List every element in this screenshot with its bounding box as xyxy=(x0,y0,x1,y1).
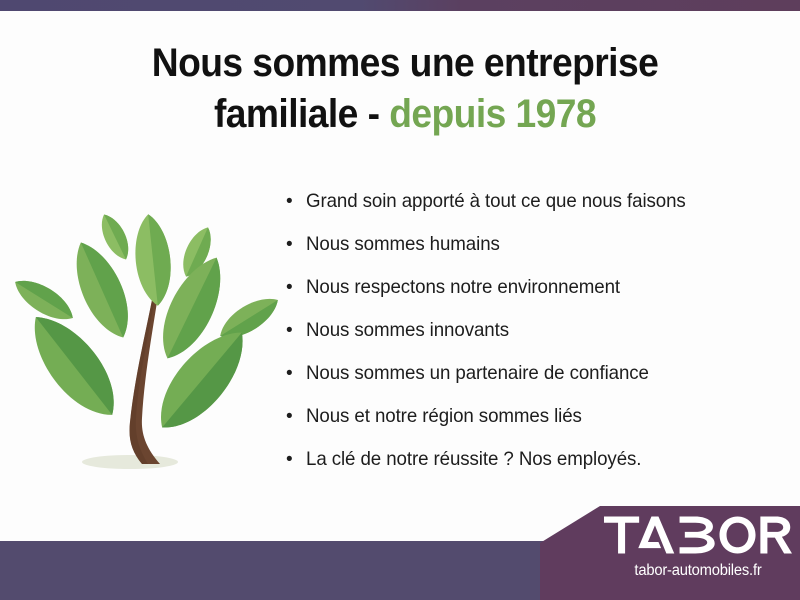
page-title-accent: depuis 1978 xyxy=(389,92,596,136)
bullet-marker-icon: • xyxy=(286,450,306,469)
tabor-wordmark-svg xyxy=(604,514,792,556)
list-item-label: Nous sommes un partenaire de confiance xyxy=(306,362,649,385)
bullet-marker-icon: • xyxy=(286,321,306,340)
tabor-logo xyxy=(604,514,792,556)
bullet-marker-icon: • xyxy=(286,192,306,211)
list-item: • Nous respectons notre environnement xyxy=(286,276,756,319)
bullet-marker-icon: • xyxy=(286,364,306,383)
list-item: • La clé de notre réussite ? Nos employé… xyxy=(286,448,756,491)
bullet-marker-icon: • xyxy=(286,407,306,426)
list-item-label: Nous sommes innovants xyxy=(306,319,509,342)
list-item-label: Nous et notre région sommes liés xyxy=(306,405,582,428)
tree-leaf xyxy=(63,235,141,346)
feature-bullet-list: • Grand soin apporté à tout ce que nous … xyxy=(286,190,756,491)
tree-illustration xyxy=(12,190,284,490)
page-title-line-1: Nous sommes une entreprise xyxy=(84,38,726,89)
list-item: • Nous sommes humains xyxy=(286,233,756,276)
bullet-marker-icon: • xyxy=(286,235,306,254)
list-item: • Nous et notre région sommes liés xyxy=(286,405,756,448)
bullet-marker-icon: • xyxy=(286,278,306,297)
list-item-label: Grand soin apporté à tout ce que nous fa… xyxy=(306,190,686,213)
page-title-line-2: familiale - depuis 1978 xyxy=(84,89,726,140)
list-item-label: La clé de notre réussite ? Nos employés. xyxy=(306,448,641,471)
page-title: Nous sommes une entreprise familiale - d… xyxy=(84,38,726,140)
slide-canvas: Nous sommes une entreprise familiale - d… xyxy=(0,0,800,600)
tree-leaf xyxy=(144,317,260,443)
list-item: • Grand soin apporté à tout ce que nous … xyxy=(286,190,756,233)
list-item-label: Nous sommes humains xyxy=(306,233,500,256)
top-accent-band xyxy=(0,0,800,11)
list-item: • Nous sommes innovants xyxy=(286,319,756,362)
list-item-label: Nous respectons notre environnement xyxy=(306,276,620,299)
tree-ground-shadow xyxy=(82,455,178,469)
page-title-plain: familiale - xyxy=(214,92,389,136)
logo-url: tabor-automobiles.fr xyxy=(609,562,788,580)
tree-svg xyxy=(12,190,284,490)
list-item: • Nous sommes un partenaire de confiance xyxy=(286,362,756,405)
tree-leaf xyxy=(131,212,175,307)
